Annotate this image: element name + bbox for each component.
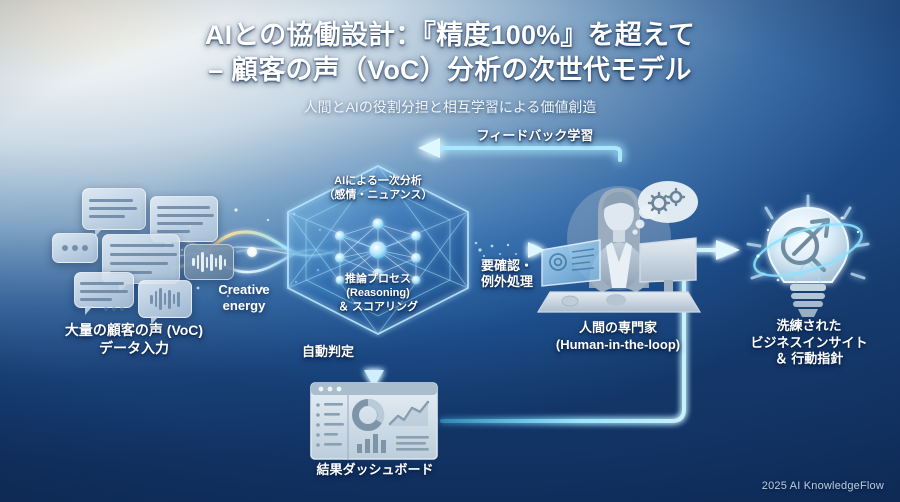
escalation-label-line-1: 要確認・ bbox=[452, 258, 562, 274]
footer-credit: 2025 AI KnowledgeFlow bbox=[762, 480, 884, 492]
escalation-label: 要確認・ 例外処理 bbox=[452, 258, 562, 291]
escalation-label-line-2: 例外処理 bbox=[452, 274, 562, 290]
feedback-label-text: フィードバック学習 bbox=[477, 128, 594, 143]
title-line-1: AIとの協働設計：『精度100%』を超えて bbox=[0, 18, 900, 53]
slide-header: AIとの協働設計：『精度100%』を超えて – 顧客の声（VoC）分析の次世代モ… bbox=[0, 18, 900, 117]
subtitle: 人間とAIの役割分担と相互学習による価値創造 bbox=[0, 97, 900, 117]
feedback-label: フィードバック学習 bbox=[420, 128, 650, 144]
title-line-2: – 顧客の声（VoC）分析の次世代モデル bbox=[0, 53, 900, 88]
auto-judgement-label: 自動判定 bbox=[288, 344, 368, 360]
infographic-slide: AIとの協働設計：『精度100%』を超えて – 顧客の声（VoC）分析の次世代モ… bbox=[0, 0, 900, 502]
auto-judgement-label-text: 自動判定 bbox=[302, 344, 354, 359]
